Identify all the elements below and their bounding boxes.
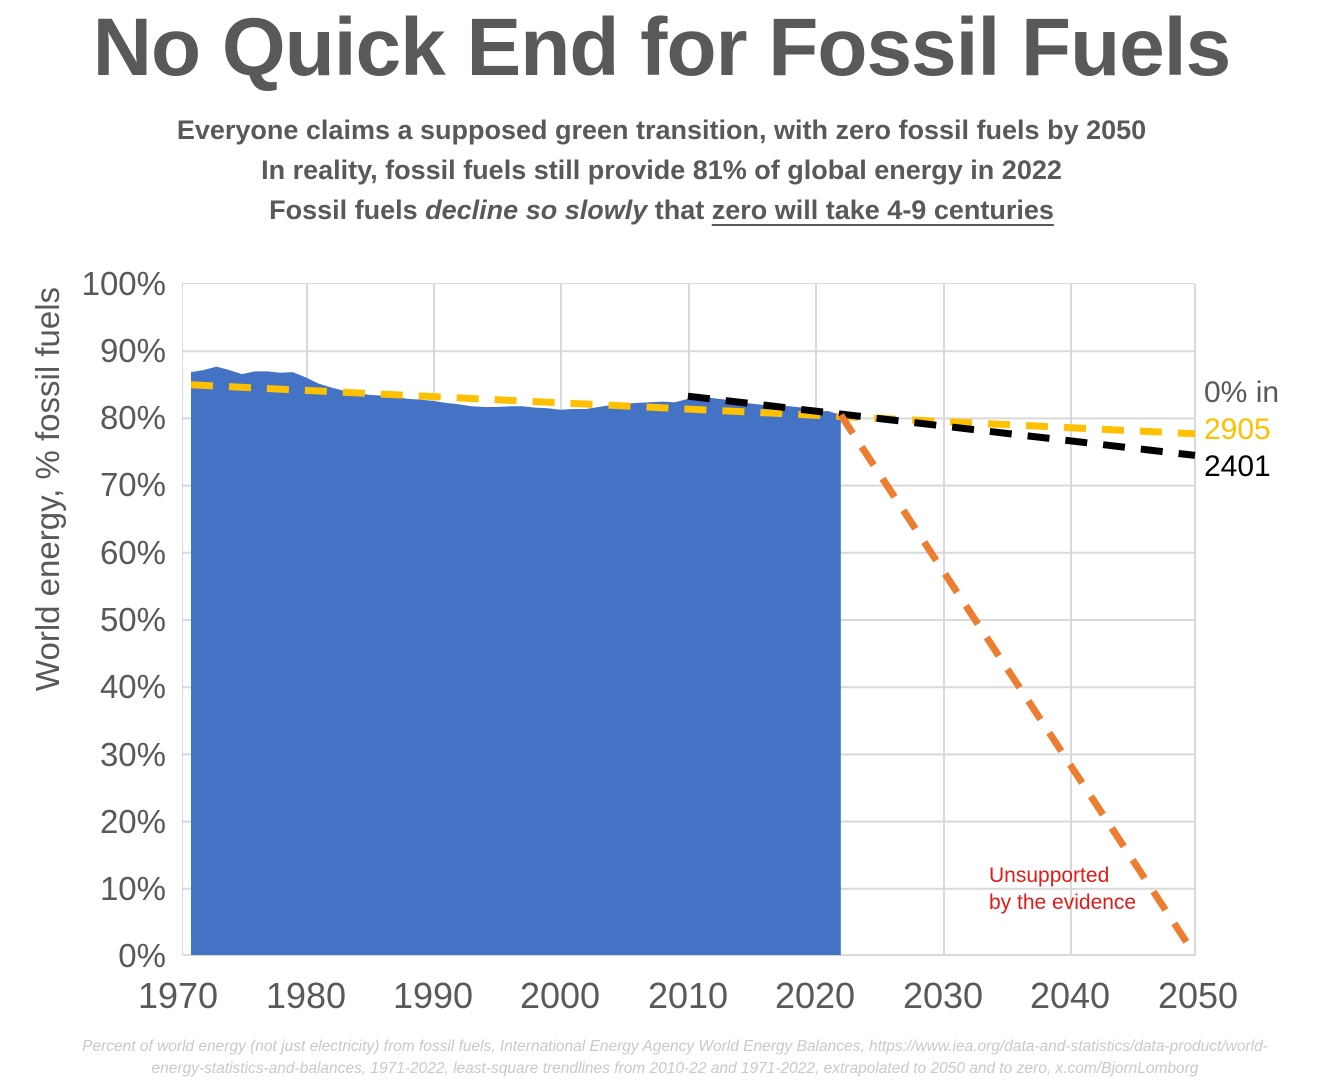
x-tick-label-2000: 2000 [490, 975, 630, 1017]
footnote-line-1: Percent of world energy (not just electr… [30, 1036, 1320, 1058]
x-tick-label-2040: 2040 [1000, 975, 1140, 1017]
x-tick-label-2020: 2020 [745, 975, 885, 1017]
unsupported-line-1: Unsupported [989, 862, 1136, 889]
footnote-line-2: energy-statistics-and-balances, 1971-202… [30, 1058, 1320, 1080]
subtitle-line-3-underlined: zero will take 4-9 centuries [712, 195, 1054, 225]
zero-year-annotation: 0% in 2905 2401 [1204, 374, 1279, 485]
x-tick-label-2030: 2030 [873, 975, 1013, 1017]
y-tick-label-90: 90% [100, 332, 166, 369]
x-tick-label-1980: 1980 [236, 975, 376, 1017]
y-tick-label-0: 0% [118, 937, 166, 974]
subtitle-line-3-part1: Fossil fuels [269, 195, 425, 225]
y-tick-label-80: 80% [100, 399, 166, 436]
unsupported-annotation: Unsupported by the evidence [989, 862, 1136, 916]
x-tick-label-1970: 1970 [108, 975, 248, 1017]
x-tick-label-2010: 2010 [618, 975, 758, 1017]
subtitle-line-2: In reality, fossil fuels still provide 8… [0, 150, 1323, 190]
black-zero-year: 2401 [1204, 448, 1279, 485]
subtitle-line-3-part2: that [647, 195, 712, 225]
subtitle-line-1: Everyone claims a supposed green transit… [0, 110, 1323, 150]
source-footnote: Percent of world energy (not just electr… [30, 1036, 1320, 1080]
fossil-fuel-area-series [191, 367, 841, 955]
y-tick-label-60: 60% [100, 534, 166, 571]
unsupported-line-2: by the evidence [989, 889, 1136, 916]
zero-in-label: 0% in [1204, 374, 1279, 411]
chart-plot-area [182, 283, 1195, 955]
yellow-zero-year: 2905 [1204, 411, 1279, 448]
subtitle-block: Everyone claims a supposed green transit… [0, 110, 1323, 230]
y-tick-label-40: 40% [100, 668, 166, 705]
y-tick-label-20: 20% [100, 803, 166, 840]
y-tick-label-30: 30% [100, 736, 166, 773]
y-tick-label-10: 10% [100, 870, 166, 907]
x-tick-label-2050: 2050 [1128, 975, 1268, 1017]
x-tick-label-1990: 1990 [363, 975, 503, 1017]
subtitle-line-3: Fossil fuels decline so slowly that zero… [0, 190, 1323, 230]
y-tick-label-50: 50% [100, 601, 166, 638]
subtitle-line-3-italic: decline so slowly [425, 195, 647, 225]
y-tick-label-70: 70% [100, 466, 166, 503]
page-title: No Quick End for Fossil Fuels [0, 2, 1323, 94]
y-tick-label-100: 100% [82, 265, 166, 302]
chart-canvas [183, 284, 1196, 956]
